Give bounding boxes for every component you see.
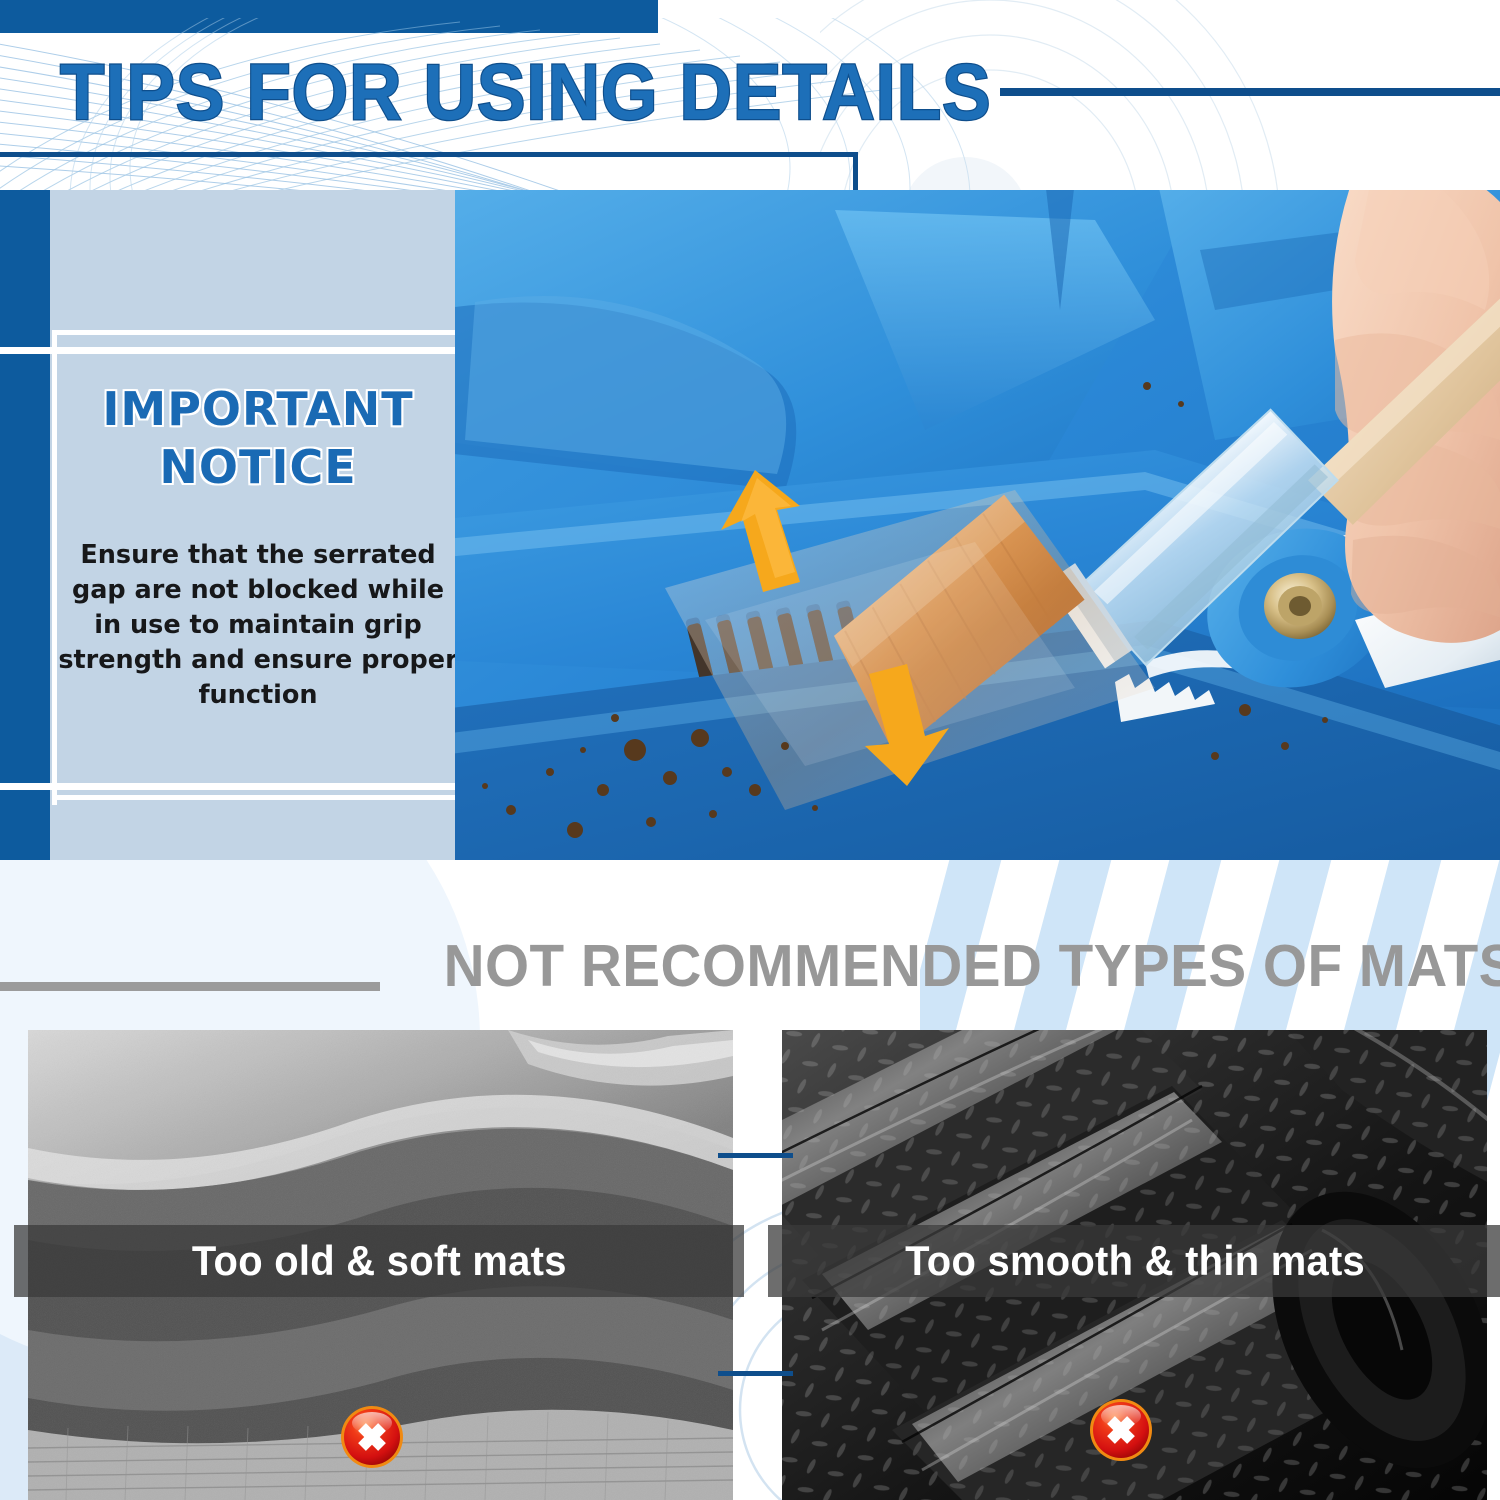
caption-bar-right: Too smooth & thin mats [768,1225,1500,1297]
header-frame-vertical-line [853,152,858,190]
notice-heading-line-2: NOTICE [58,438,458,496]
red-x-badge-left [340,1405,404,1469]
infographic-page: TIPS FOR USING DETAILS IMPORTANT NOTICE … [0,0,1500,1500]
section-heading-rule [0,982,380,991]
notice-heading: IMPORTANT NOTICE [58,380,458,496]
notice-heading-line-1: IMPORTANT [58,380,458,438]
important-notice-section: IMPORTANT NOTICE Ensure that the serrate… [0,190,1500,860]
connector-line-bottom [718,1371,793,1376]
title-underline-rule [1000,88,1500,96]
red-x-badge-right [1089,1398,1153,1462]
notice-white-frame-left-edge [52,330,57,805]
product-photo-brush-cleaning [455,190,1500,860]
section-heading: NOT RECOMMENDED TYPES OF MATS [444,932,1490,1000]
header-section: TIPS FOR USING DETAILS [0,0,1500,190]
caption-bar-left: Too old & soft mats [14,1225,744,1297]
caption-text-right: Too smooth & thin mats [906,1237,1366,1285]
page-title: TIPS FOR USING DETAILS [60,46,991,138]
caption-text-left: Too old & soft mats [192,1237,567,1285]
left-accent-bar [0,190,50,860]
header-frame-horizontal-line [0,152,858,157]
not-recommended-section: NOT RECOMMENDED TYPES OF MATS [0,860,1500,1500]
connector-line-top [718,1153,793,1158]
notice-body-text: Ensure that the serrated gap are not blo… [58,538,458,713]
